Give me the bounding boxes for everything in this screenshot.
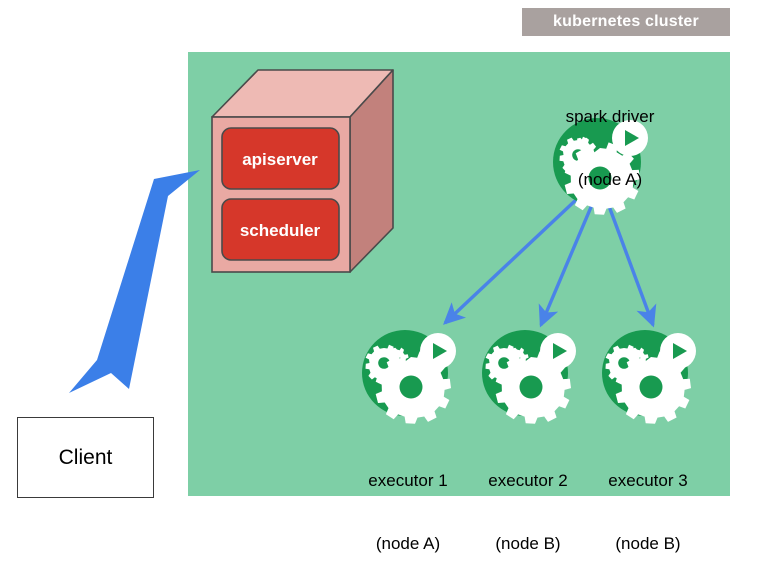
client-box[interactable]: Client xyxy=(17,417,154,498)
client-label: Client xyxy=(59,446,113,470)
executor-2-label-line2: (node B) xyxy=(458,533,598,554)
executor-1-label-line1: executor 1 xyxy=(338,470,478,491)
scheduler-label: scheduler xyxy=(240,221,321,240)
executor-3-label-line1: executor 3 xyxy=(578,470,718,491)
spark-driver-label-line2: (node A) xyxy=(528,169,692,190)
executor-2-label: executor 2 (node B) xyxy=(458,428,598,575)
play-icon xyxy=(660,333,696,369)
spark-driver-label: spark driver (node A) xyxy=(528,64,692,211)
executor-3-label: executor 3 (node B) xyxy=(578,428,718,575)
apiserver-label: apiserver xyxy=(242,150,318,169)
executor-1-label-line2: (node A) xyxy=(338,533,478,554)
kubernetes-cluster-label: kubernetes cluster xyxy=(522,8,730,36)
spark-driver-label-line1: spark driver xyxy=(528,106,692,127)
executor-1-label: executor 1 (node A) xyxy=(338,428,478,575)
spark-submit-arrow xyxy=(69,170,200,393)
executor-3-label-line2: (node B) xyxy=(578,533,718,554)
executor-2-label-line1: executor 2 xyxy=(458,470,598,491)
play-icon xyxy=(420,333,456,369)
play-icon xyxy=(540,333,576,369)
